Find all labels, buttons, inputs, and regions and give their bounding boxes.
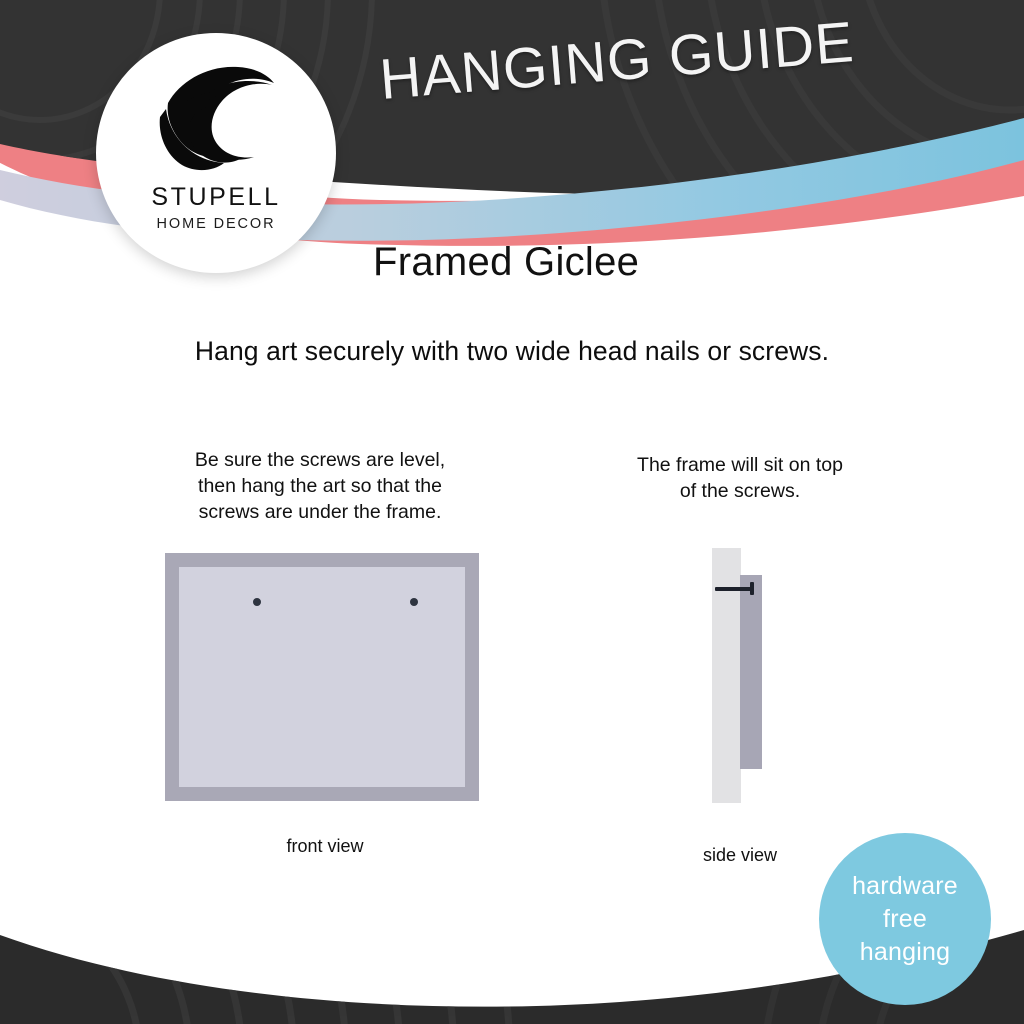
side-view-diagram bbox=[706, 545, 776, 807]
product-subtitle: Framed Giclee bbox=[373, 240, 639, 285]
brand-logo-badge: STUPELL HOME DECOR bbox=[96, 33, 336, 273]
badge-line-2: free bbox=[883, 903, 927, 936]
brand-tagline: HOME DECOR bbox=[96, 216, 336, 232]
side-view-frame bbox=[740, 575, 762, 769]
side-view-screw-head-icon bbox=[750, 582, 754, 595]
front-view-label: front view bbox=[165, 836, 485, 857]
front-view-frame-artwork bbox=[179, 567, 465, 787]
badge-line-1: hardware bbox=[852, 870, 958, 903]
front-view-frame-diagram bbox=[165, 553, 479, 801]
side-view-caption: The frame will sit on top of the screws. bbox=[590, 452, 890, 504]
main-instruction-text: Hang art securely with two wide head nai… bbox=[0, 336, 1024, 367]
page-title: HANGING GUIDE bbox=[377, 7, 881, 113]
hanging-guide-infographic: HANGING GUIDE STUPELL HOME DECOR Framed … bbox=[0, 0, 1024, 1024]
side-view-caption-line-1: The frame will sit on top bbox=[590, 452, 890, 478]
badge-line-3: hanging bbox=[860, 936, 950, 969]
front-view-caption-line-1: Be sure the screws are level, bbox=[160, 447, 480, 473]
side-view-label: side view bbox=[620, 845, 860, 866]
screw-dot-left-icon bbox=[253, 598, 261, 606]
stupell-swoosh-icon bbox=[150, 55, 282, 179]
side-view-caption-line-2: of the screws. bbox=[590, 478, 890, 504]
front-view-caption-line-3: screws are under the frame. bbox=[160, 499, 480, 525]
screw-dot-right-icon bbox=[410, 598, 418, 606]
side-view-screw-shaft-icon bbox=[715, 587, 753, 591]
hardware-free-hanging-badge: hardware free hanging bbox=[819, 833, 991, 1005]
brand-name: STUPELL bbox=[96, 183, 336, 212]
front-view-caption: Be sure the screws are level, then hang … bbox=[160, 447, 480, 525]
front-view-caption-line-2: then hang the art so that the bbox=[160, 473, 480, 499]
